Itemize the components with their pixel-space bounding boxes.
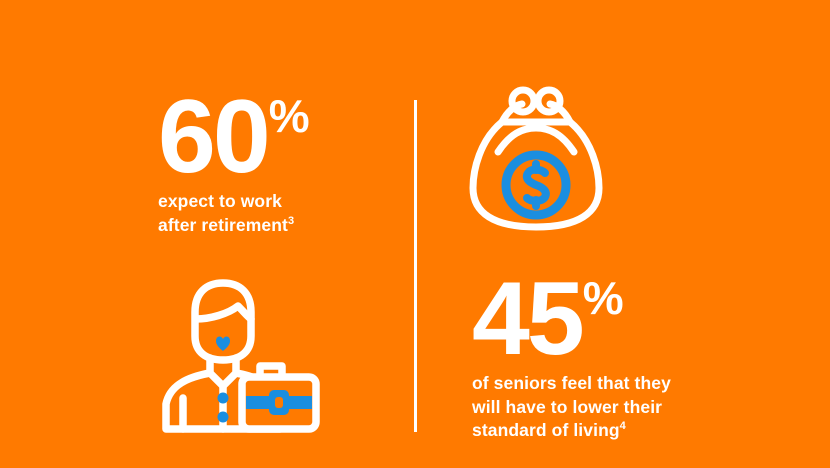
shirt-button-upper xyxy=(218,393,229,404)
shirt-button-lower xyxy=(218,412,229,423)
coin-purse-icon xyxy=(468,86,604,232)
briefcase xyxy=(242,366,316,429)
stat-number-60: 60% xyxy=(158,93,308,182)
stat-caption-60-line-2-text: after retirement xyxy=(158,215,288,235)
mustache-shape xyxy=(216,337,230,351)
stat-number-45: 45% xyxy=(472,275,671,364)
stat-caption-60-line-2: after retirement3 xyxy=(158,214,308,237)
stat-caption-60: expect to work after retirement3 xyxy=(158,190,308,237)
percent-sign-icon: % xyxy=(269,90,309,142)
footnote-marker-3: 3 xyxy=(288,215,294,227)
dollar-coin xyxy=(506,155,566,215)
stat-block-45-percent: 45% of seniors feel that they will have … xyxy=(472,275,671,442)
stat-number-45-value: 45 xyxy=(472,261,582,377)
footnote-marker-4: 4 xyxy=(620,420,626,432)
stat-caption-45-line-1: of seniors feel that they xyxy=(472,372,671,395)
stat-block-60-percent: 60% expect to work after retirement3 xyxy=(158,93,308,237)
worker-with-briefcase-icon xyxy=(158,278,320,434)
percent-sign-icon: % xyxy=(583,272,623,324)
stat-number-60-value: 60 xyxy=(158,79,268,195)
stat-caption-60-line-1: expect to work xyxy=(158,190,308,213)
stat-caption-45-line-2: will have to lower their xyxy=(472,396,671,419)
stat-caption-45: of seniors feel that they will have to l… xyxy=(472,372,671,442)
stat-caption-45-line-3: standard of living4 xyxy=(472,419,671,442)
stat-caption-45-line-3-text: standard of living xyxy=(472,420,620,440)
infographic-canvas: 60% expect to work after retirement3 45%… xyxy=(0,0,830,468)
vertical-divider xyxy=(414,100,417,432)
